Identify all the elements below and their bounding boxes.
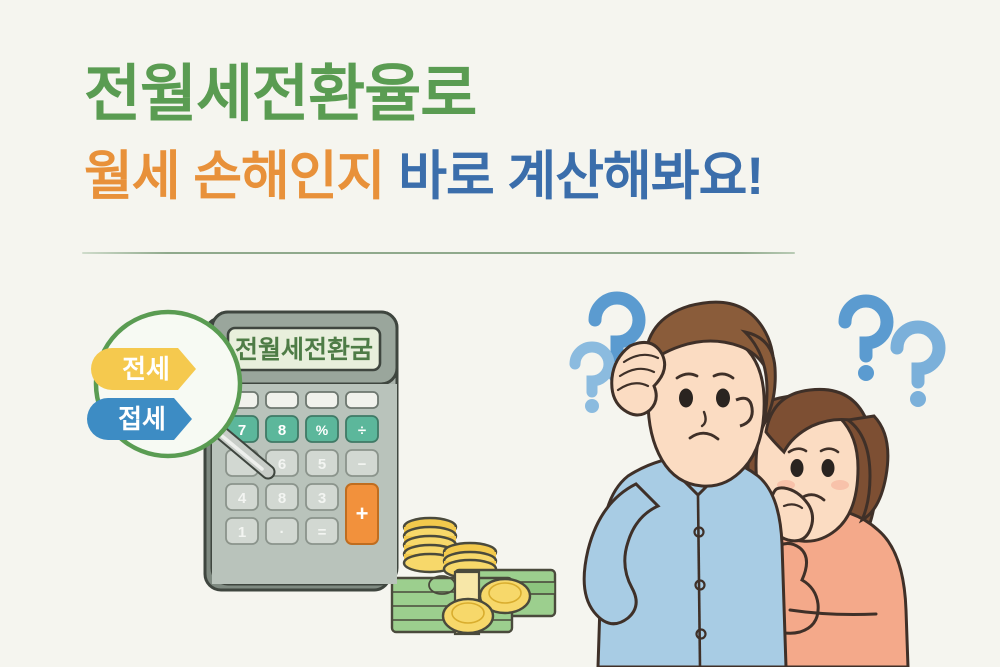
headline-line-1: 전월세전환율로 [84,62,944,127]
calculator-key-1[interactable]: 1 [238,524,246,541]
calculator-key-plus[interactable]: + [346,484,378,544]
question-marks-right [845,301,939,407]
calculator-key-divide[interactable]: ÷ [358,422,366,439]
question-mark-icon-4 [897,327,939,407]
headline-divider [82,252,795,254]
woman-eye-left [791,459,804,477]
calculator-key-plus-label[interactable]: + [356,501,369,526]
calculator-display-text: 전월세전환굼 [235,336,373,364]
badge-jeonse-label: 전세 [122,354,170,384]
woman-eye-right [822,459,835,477]
man-eye-right [716,389,730,408]
calculator-key-equals[interactable]: = [318,524,327,541]
calculator-key-4[interactable]: 4 [238,490,247,507]
people-illustration [584,302,908,667]
calculator-row-4[interactable]: 1 · = [226,518,338,544]
money-illustration [392,518,555,634]
banner-root: 전월세전환율로 월세 손해인지바로 계산해봐요! [0,0,1000,667]
headline-line-2-blue: 바로 계산해봐요! [398,147,763,206]
calculator-row-3[interactable]: 4 8 3 [226,484,338,510]
man-eye-left [679,389,693,408]
badge-jeonse: 전세 [91,348,196,390]
calculator-key-3[interactable]: 3 [318,490,326,507]
headline-line-2: 월세 손해인지바로 계산해봐요! [84,149,944,205]
calculator-key-dot[interactable]: · [280,524,285,541]
badge-wolse-label: 접세 [118,404,166,434]
calculator-display: 전월세전환굼 [228,328,380,370]
illustration-stage: 전월세전환굼 7 8 [0,280,1000,667]
calculator-key-8[interactable]: 8 [278,422,286,439]
badge-wolse: 접세 [87,398,192,440]
calculator-key-6[interactable]: 6 [278,456,286,473]
calculator-key-7[interactable]: 7 [238,422,246,439]
headline-block: 전월세전환율로 월세 손해인지바로 계산해봐요! [84,62,944,205]
calculator-key-5[interactable]: 5 [318,456,326,473]
calculator-key-minus[interactable]: − [358,456,367,473]
headline-line-2-orange: 월세 손해인지 [84,147,384,206]
calculator-key-8b[interactable]: 8 [278,490,286,507]
calculator-key-percent[interactable]: % [316,422,329,438]
question-mark-icon-3 [845,301,887,381]
question-mark-icon-2 [575,347,609,413]
